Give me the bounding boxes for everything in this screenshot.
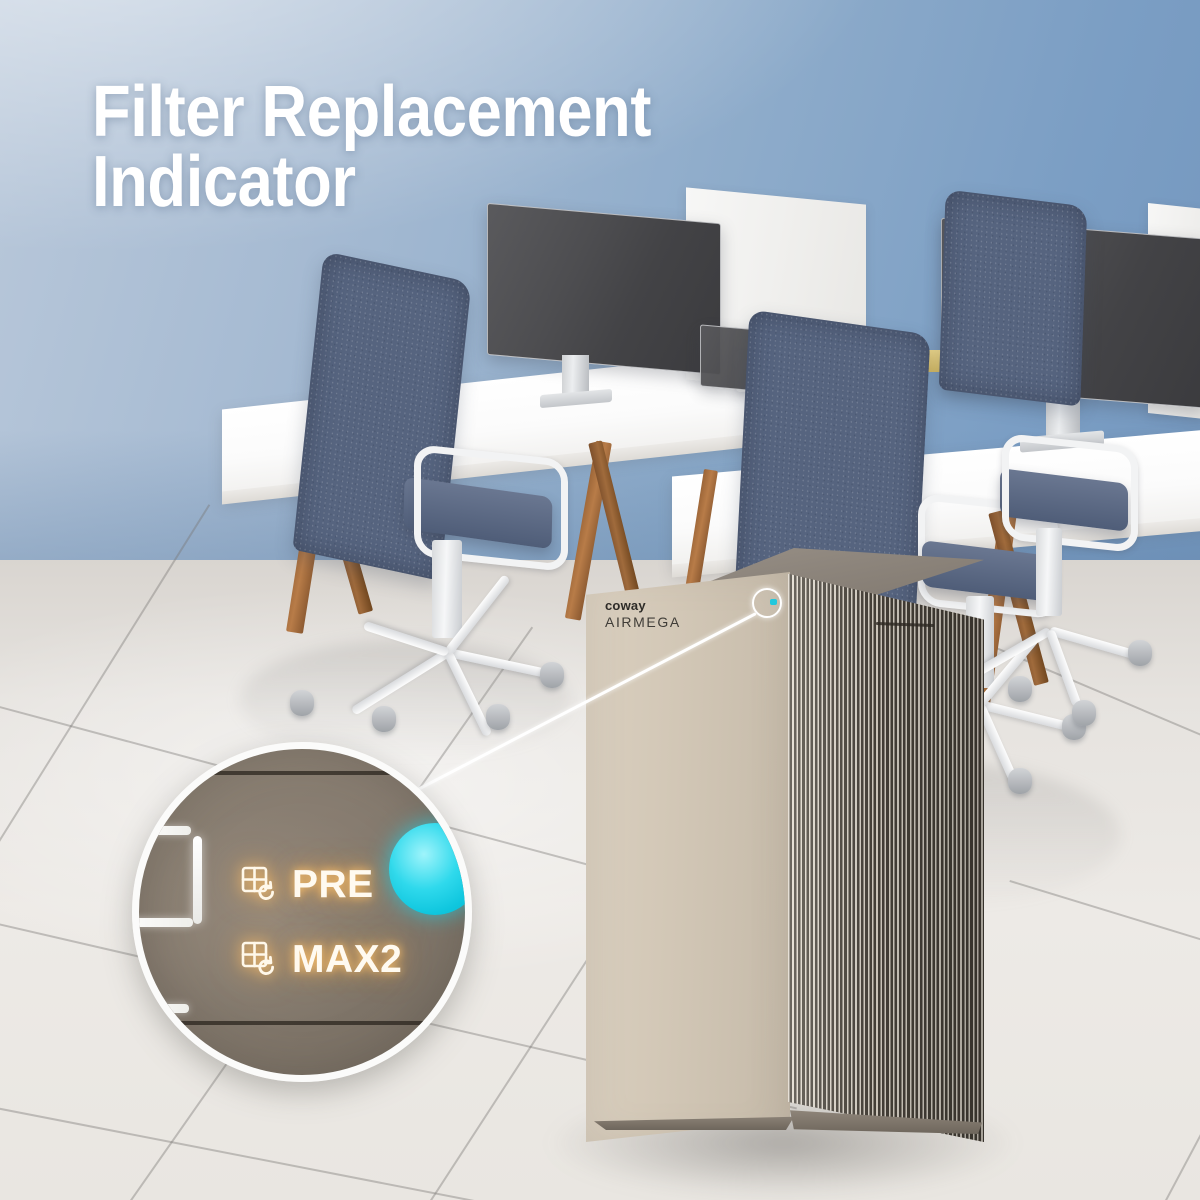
filter-indicator-max2: MAX2 <box>239 939 402 979</box>
headline: Filter Replacement Indicator <box>92 78 852 218</box>
fan-speed-slider[interactable] <box>193 836 202 924</box>
filter-indicator-label: PRE <box>292 865 374 904</box>
monitor-screen <box>487 203 721 375</box>
filter-refresh-icon <box>239 864 279 904</box>
chair-fabric-texture <box>939 189 1087 406</box>
purifier-front-panel: coway AIRMEGA <box>586 572 790 1142</box>
panel-seam-bottom <box>139 1021 465 1025</box>
air-purifier: coway AIRMEGA <box>568 548 998 1148</box>
chair-center-caster <box>1008 768 1032 794</box>
filter-refresh-icon <box>239 939 279 979</box>
chair-left-caster <box>540 662 564 688</box>
panel-seam-top <box>139 771 465 775</box>
air-quality-light-dot <box>770 599 777 605</box>
chair-left-caster <box>290 690 314 716</box>
purifier-grille-panel <box>788 568 984 1142</box>
filter-indicator-pre: PRE <box>239 864 374 904</box>
purifier-grille-shading <box>788 568 984 1142</box>
chair-right-armrest <box>1002 433 1138 553</box>
model-name: AIRMEGA <box>605 614 681 632</box>
chair-right-caster <box>1008 676 1032 702</box>
chair-right-caster <box>1072 700 1096 726</box>
product-marketing-image: coway AIRMEGA <box>0 0 1200 1200</box>
chair-left-caster <box>372 706 396 732</box>
panel-glow <box>139 749 465 1075</box>
air-quality-indicator-light <box>389 823 472 915</box>
level-tick-mark <box>133 826 191 835</box>
headline-line-1: Filter Replacement <box>92 78 761 148</box>
chair-left-post <box>432 540 462 638</box>
headline-line-2: Indicator <box>92 148 761 218</box>
filter-indicator-label: MAX2 <box>292 940 402 979</box>
chair-right-post <box>1036 528 1062 616</box>
level-tick-mark <box>132 1004 189 1013</box>
level-tick-mark <box>132 918 193 927</box>
chair-left-caster <box>486 704 510 730</box>
control-panel-magnifier: PRE MAX2 <box>132 742 472 1082</box>
chair-right-caster <box>1128 640 1152 666</box>
brand-logo: coway <box>605 598 681 614</box>
monitor-center <box>487 203 719 373</box>
chair-right-back <box>939 189 1087 406</box>
